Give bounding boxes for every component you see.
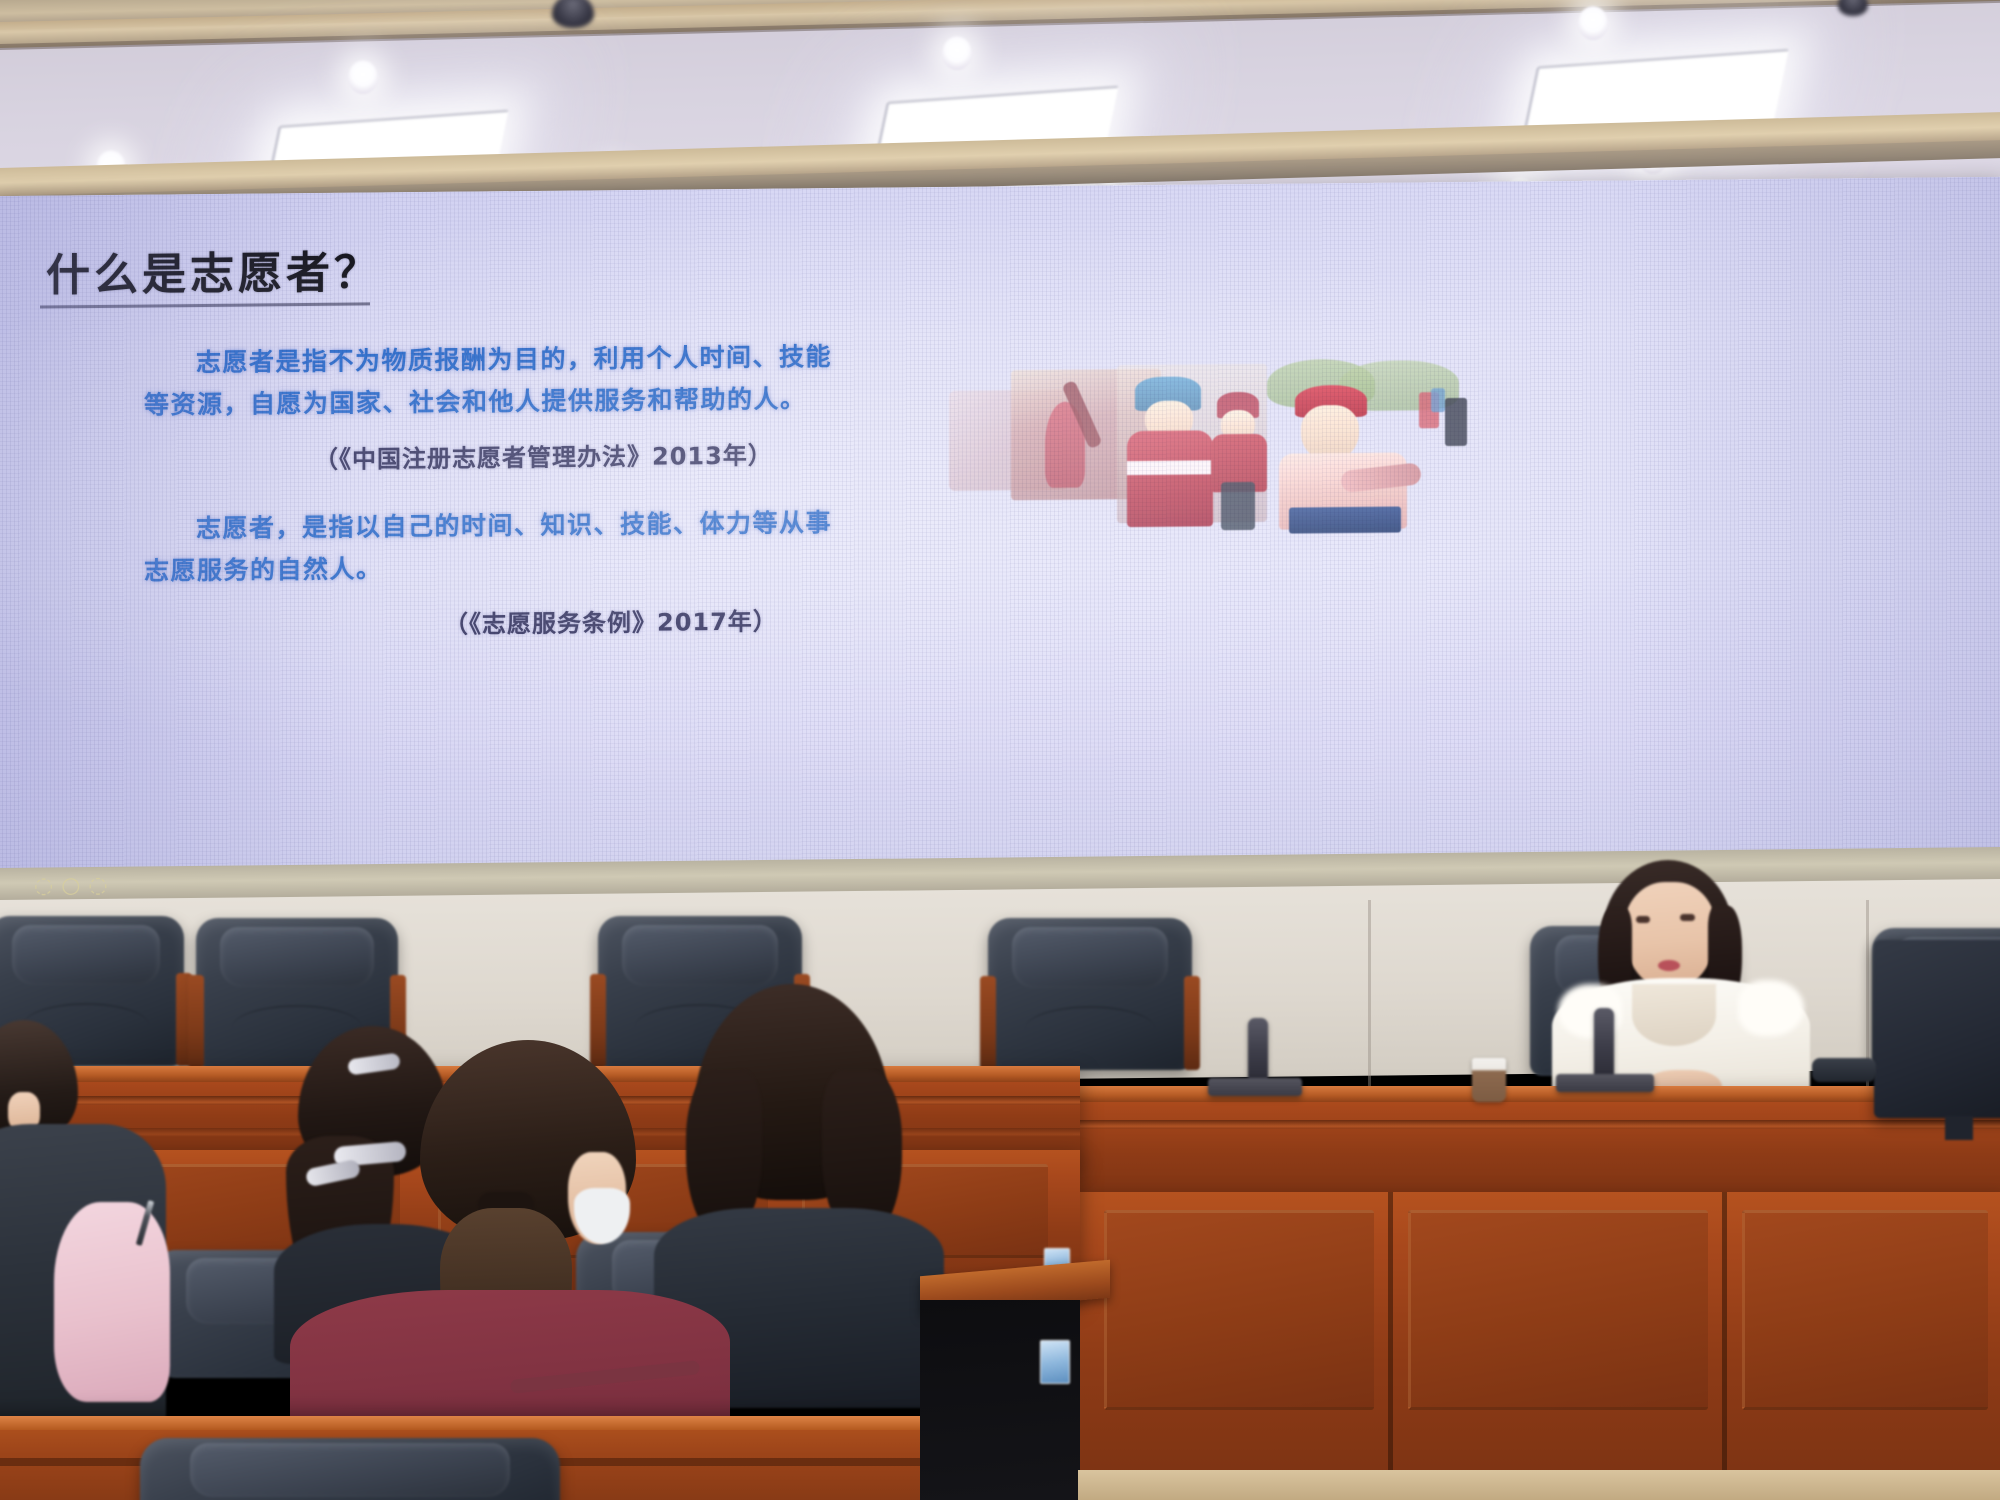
microphone-base [1556,1074,1654,1092]
slide-paragraph-2: 志愿者，是指以自己的时间、知识、技能、体力等从事志愿服务的自然人。 [144,502,834,593]
led-display-screen: 什么是志愿者？ 志愿者是指不为物质报酬为目的，利用个人时间、技能等资源，自愿为国… [0,177,2000,886]
slide-citation-1: （《中国注册志愿者管理办法》2013年） [144,434,834,483]
conference-chair[interactable] [140,1438,560,1500]
microphone-base [1208,1078,1302,1096]
wall-seam [1368,900,1371,1090]
security-camera-icon [1838,0,1868,16]
podium-label [1040,1340,1070,1384]
conference-room-photo: 什么是志愿者？ 志愿者是指不为物质报酬为目的，利用个人时间、技能等资源，自愿为国… [0,0,2000,1500]
audience-member-left [0,1020,190,1440]
ceiling-downlight [1578,6,1608,40]
microphone[interactable] [1248,1018,1268,1084]
slide-citation-2: （《志愿服务条例》2017年） [144,600,834,649]
slide-photo-collage [949,358,1489,533]
computer-mouse[interactable] [1812,1058,1876,1082]
floor-strip [1078,1470,2000,1500]
wall-band-glyphs: ◌○◌ [34,873,116,899]
slide-title: 什么是志愿者？ [46,236,382,303]
coffee-cup[interactable] [1472,1058,1506,1102]
ceiling-downlight [942,36,972,70]
slide-body: 志愿者是指不为物质报酬为目的，利用个人时间、技能等资源，自愿为国家、社会和他人提… [144,336,834,675]
security-camera-icon [552,0,594,28]
slide-paragraph-1: 志愿者是指不为物质报酬为目的，利用个人时间、技能等资源，自愿为国家、社会和他人提… [144,336,834,427]
ceiling-downlight [348,60,378,94]
side-podium-shadow [920,1300,1080,1500]
microphone[interactable] [1594,1008,1614,1082]
slide-surface: 什么是志愿者？ 志愿者是指不为物质报酬为目的，利用个人时间、技能等资源，自愿为国… [0,177,2000,886]
conference-chair[interactable] [988,918,1192,1070]
head-table-front-panel [1078,1192,2000,1500]
desktop-monitor[interactable] [1874,940,2000,1118]
slide-title-underline [40,302,370,308]
